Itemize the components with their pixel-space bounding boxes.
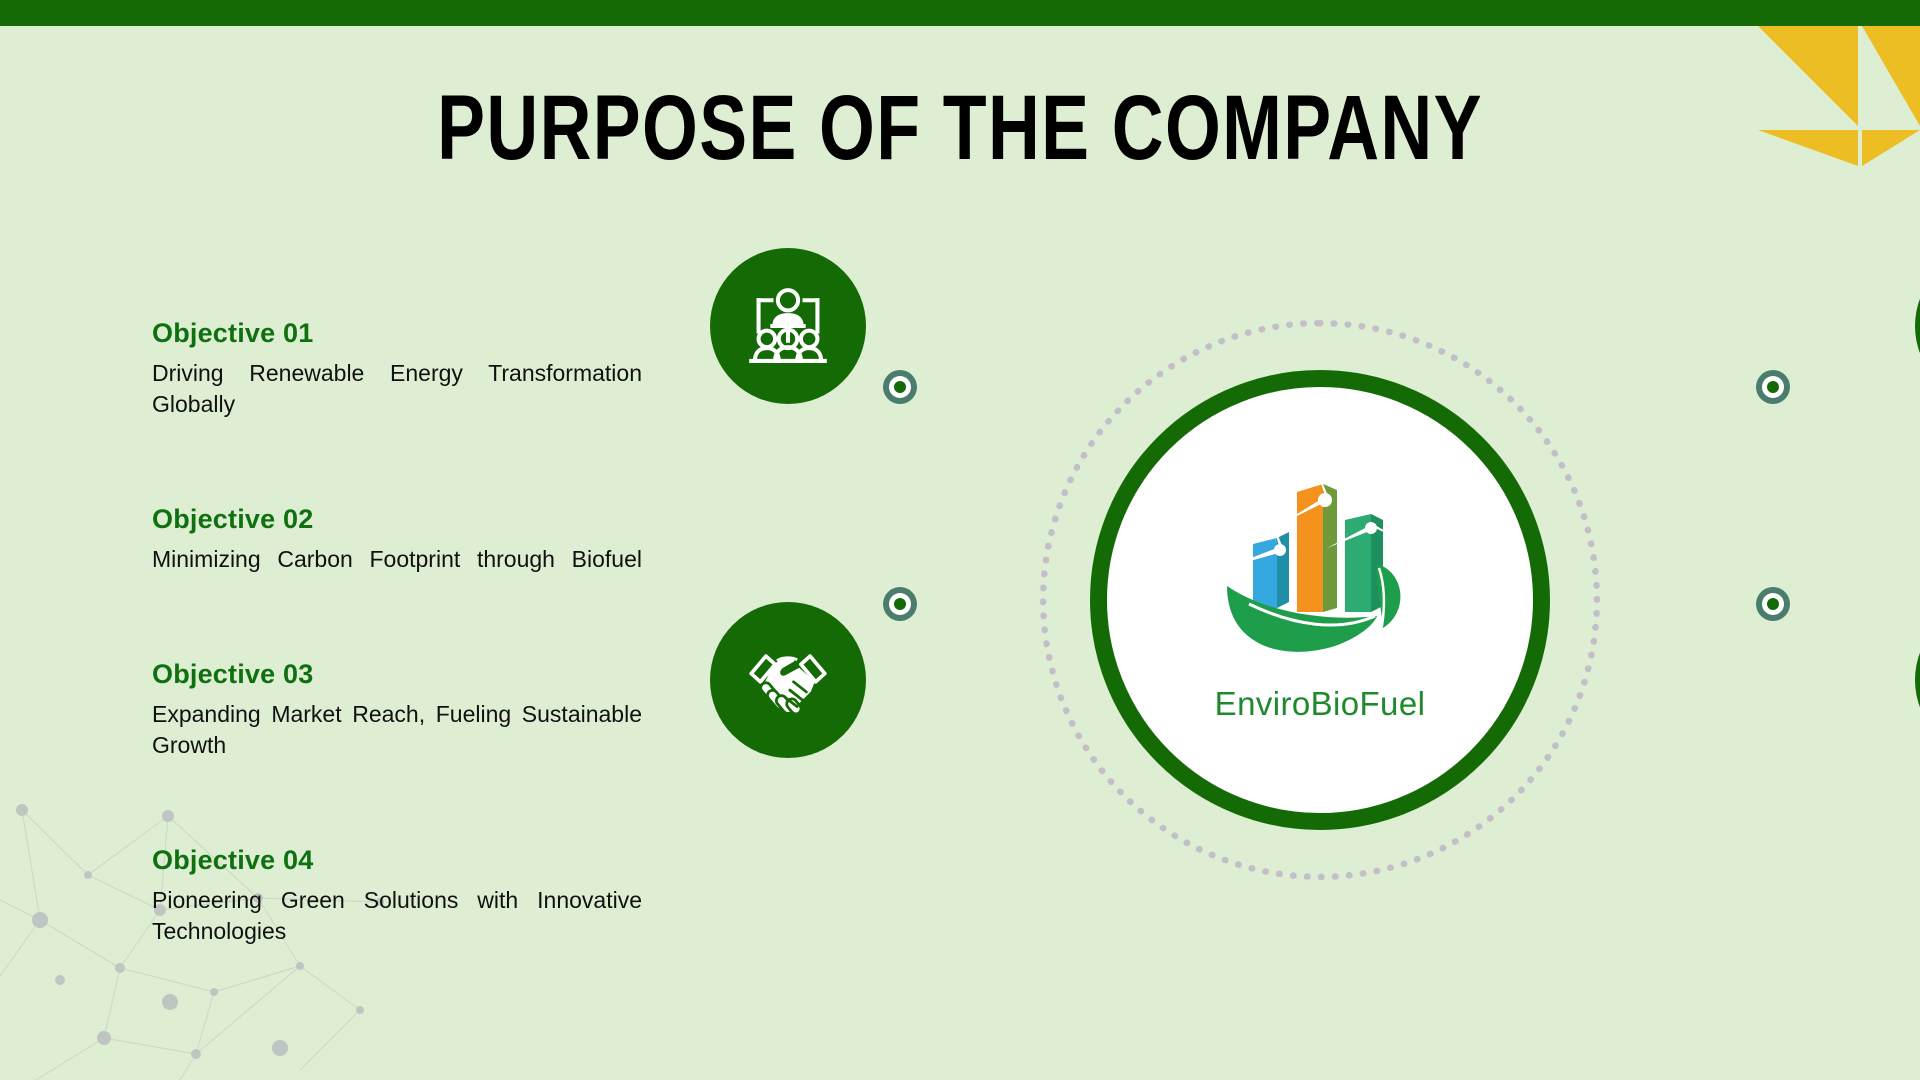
objective-3-description: Expanding Market Reach, Fueling Sustaina… — [152, 699, 642, 792]
page-title: PURPOSE OF THE COMPANY — [0, 86, 1920, 158]
top-green-bar — [0, 0, 1920, 26]
icon-bubble-bottom-left[interactable] — [710, 602, 866, 758]
objective-item-2: Objective 02 Minimizing Carbon Footprint… — [152, 504, 652, 606]
objective-2-label: Objective 02 — [152, 504, 652, 535]
objective-item-4: Objective 04 Pioneering Green Solutions … — [152, 845, 652, 978]
handshake-icon — [742, 634, 834, 726]
icon-bubble-top-right[interactable] — [1915, 248, 1920, 404]
leaf-bar-chart-logo — [1205, 471, 1435, 681]
presentation-team-icon — [742, 280, 834, 372]
brand-name: EnviroBioFuel — [1215, 685, 1426, 723]
objective-4-description: Pioneering Green Solutions with Innovati… — [152, 885, 642, 978]
objective-2-description: Minimizing Carbon Footprint through Biof… — [152, 544, 642, 606]
objective-item-3: Objective 03 Expanding Market Reach, Fue… — [152, 659, 652, 792]
center-logo-circle: EnviroBioFuel — [1090, 370, 1550, 830]
hub-and-spoke-diagram: EnviroBioFuel — [840, 270, 1840, 970]
icon-bubble-bottom-right[interactable] — [1915, 602, 1920, 758]
objective-1-label: Objective 01 — [152, 318, 652, 349]
connector-node-bottom-right — [1756, 587, 1790, 621]
icon-bubble-top-left[interactable] — [710, 248, 866, 404]
connector-node-bottom-left — [883, 587, 917, 621]
objective-4-label: Objective 04 — [152, 845, 652, 876]
objective-item-1: Objective 01 Driving Renewable Energy Tr… — [152, 318, 652, 451]
objective-1-description: Driving Renewable Energy Transformation … — [152, 358, 642, 451]
page-title-text: PURPOSE OF THE COMPANY — [77, 86, 1843, 171]
connector-node-top-left — [883, 370, 917, 404]
objective-3-label: Objective 03 — [152, 659, 652, 690]
objectives-list: Objective 01 Driving Renewable Energy Tr… — [152, 318, 652, 979]
connector-node-top-right — [1756, 370, 1790, 404]
